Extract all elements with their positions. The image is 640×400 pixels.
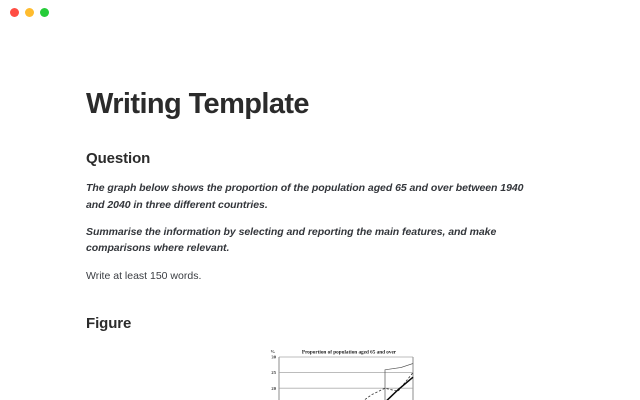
population-line-chart: % 30 25 20 15 10 Proportion of populatio… [261, 346, 417, 400]
page-title: Writing Template [86, 88, 592, 121]
question-paragraph-1: The graph below shows the proportion of … [86, 180, 544, 213]
population-chart-image: % 30 25 20 15 10 Proportion of populatio… [261, 346, 417, 400]
y-axis-tick-labels: 30 25 20 15 10 [271, 354, 276, 400]
svg-text:30: 30 [271, 354, 276, 359]
svg-text:20: 20 [271, 385, 276, 390]
word-count-note: Write at least 150 words. [86, 268, 592, 284]
figure-container: % 30 25 20 15 10 Proportion of populatio… [86, 346, 592, 400]
window-titlebar [0, 0, 640, 24]
window-controls [10, 8, 49, 17]
minimize-window-button[interactable] [25, 8, 34, 17]
maximize-window-button[interactable] [40, 8, 49, 17]
document-body: Writing Template Question The graph belo… [0, 88, 640, 400]
y-axis-unit-label: % [270, 349, 275, 354]
chart-title: Proportion of population aged 65 and ove… [302, 349, 397, 355]
close-window-button[interactable] [10, 8, 19, 17]
question-paragraph-2: Summarise the information by selecting a… [86, 224, 544, 257]
svg-text:25: 25 [271, 370, 276, 375]
question-section-heading: Question [86, 150, 592, 167]
figure-section-heading: Figure [86, 315, 592, 332]
